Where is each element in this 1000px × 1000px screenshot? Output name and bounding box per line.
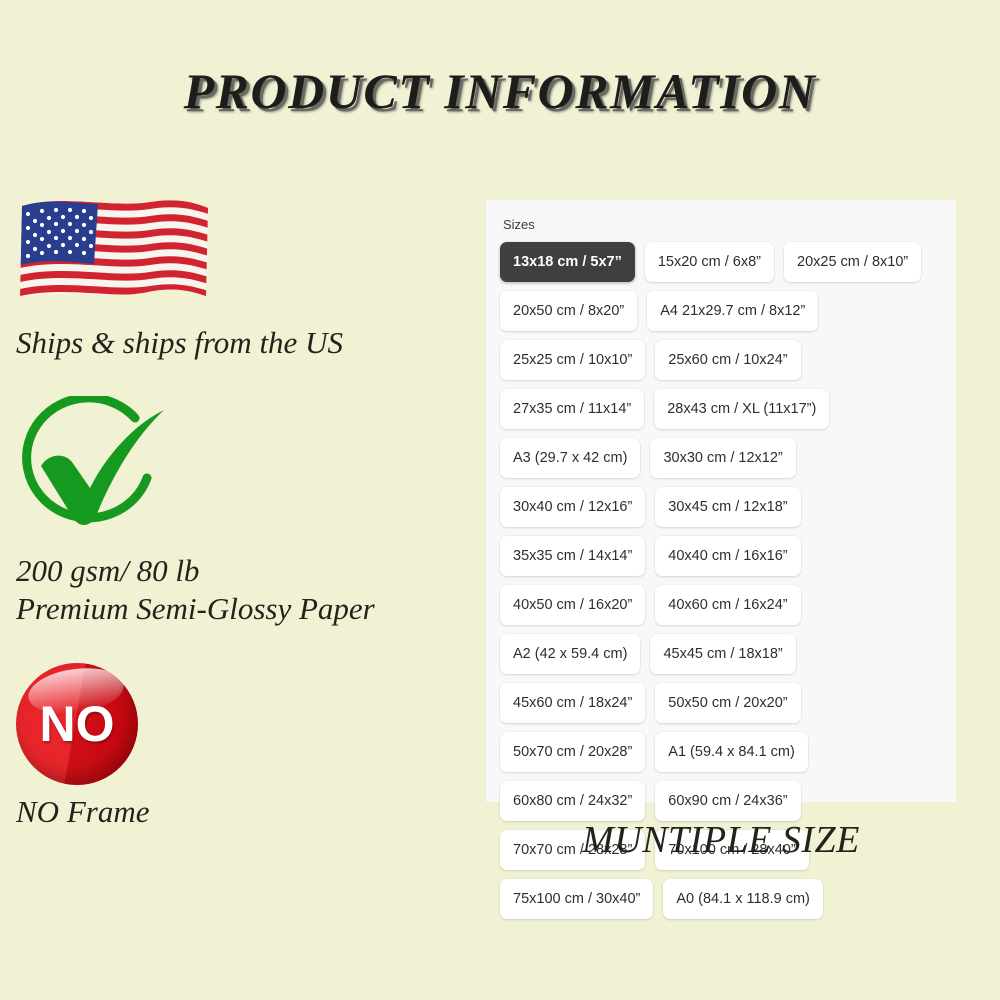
- size-option-chip[interactable]: A2 (42 x 59.4 cm): [500, 634, 640, 674]
- size-option-chip[interactable]: 40x60 cm / 16x24”: [655, 585, 800, 625]
- feature-caption-gsm: 200 gsm/ 80 lb: [16, 552, 476, 590]
- no-badge-label: NO: [40, 695, 115, 753]
- feature-no-frame: NO NO Frame: [16, 663, 476, 831]
- size-option-chip[interactable]: A4 21x29.7 cm / 8x12”: [647, 291, 818, 331]
- size-option-chip[interactable]: A1 (59.4 x 84.1 cm): [655, 732, 808, 772]
- page-title: PRODUCT INFORMATION: [0, 62, 1000, 120]
- sizes-label: Sizes: [503, 217, 535, 232]
- size-option-chip[interactable]: 15x20 cm / 6x8”: [645, 242, 774, 282]
- size-option-chip[interactable]: 30x30 cm / 12x12”: [650, 438, 795, 478]
- green-check-icon: [16, 396, 166, 544]
- size-option-chip[interactable]: 27x35 cm / 11x14”: [500, 389, 644, 429]
- size-option-chip[interactable]: 40x50 cm / 16x20”: [500, 585, 645, 625]
- feature-ships-from-us: Ships & ships from the US: [16, 192, 476, 362]
- feature-paper-quality: 200 gsm/ 80 lb Premium Semi-Glossy Paper: [16, 396, 476, 628]
- size-option-chip[interactable]: 30x45 cm / 12x18”: [655, 487, 800, 527]
- size-option-chip[interactable]: 25x25 cm / 10x10”: [500, 340, 645, 380]
- size-option-chip[interactable]: A0 (84.1 x 118.9 cm): [663, 879, 823, 919]
- size-option-chip[interactable]: 28x43 cm / XL (11x17”): [654, 389, 829, 429]
- size-option-chip[interactable]: 60x80 cm / 24x32”: [500, 781, 645, 821]
- sizes-panel: Sizes 13x18 cm / 5x7”15x20 cm / 6x8”20x2…: [486, 200, 956, 802]
- size-option-chip[interactable]: 40x40 cm / 16x16”: [655, 536, 800, 576]
- us-flag-icon: [16, 192, 212, 316]
- size-option-chip[interactable]: 60x90 cm / 24x36”: [655, 781, 800, 821]
- size-option-chip[interactable]: 45x45 cm / 18x18”: [650, 634, 795, 674]
- size-option-chip[interactable]: 50x50 cm / 20x20”: [655, 683, 800, 723]
- no-badge-icon: NO: [16, 663, 138, 785]
- feature-caption-no-frame: NO Frame: [16, 793, 476, 831]
- multiple-size-caption: MUNTIPLE SIZE: [486, 818, 956, 862]
- size-option-chip[interactable]: 25x60 cm / 10x24”: [655, 340, 800, 380]
- size-option-chip[interactable]: 75x100 cm / 30x40”: [500, 879, 653, 919]
- size-option-chip[interactable]: 50x70 cm / 20x28”: [500, 732, 645, 772]
- feature-caption-paper: Premium Semi-Glossy Paper: [16, 590, 476, 628]
- size-option-chip[interactable]: 20x50 cm / 8x20”: [500, 291, 637, 331]
- size-option-chip[interactable]: 20x25 cm / 8x10”: [784, 242, 921, 282]
- size-option-chip[interactable]: 45x60 cm / 18x24”: [500, 683, 645, 723]
- feature-caption-ships: Ships & ships from the US: [16, 324, 476, 362]
- size-option-chip[interactable]: 30x40 cm / 12x16”: [500, 487, 645, 527]
- size-option-chip[interactable]: A3 (29.7 x 42 cm): [500, 438, 640, 478]
- size-option-chip[interactable]: 13x18 cm / 5x7”: [500, 242, 635, 282]
- feature-list: Ships & ships from the US 200 gsm/ 80 lb…: [16, 192, 476, 857]
- size-option-chip[interactable]: 35x35 cm / 14x14”: [500, 536, 645, 576]
